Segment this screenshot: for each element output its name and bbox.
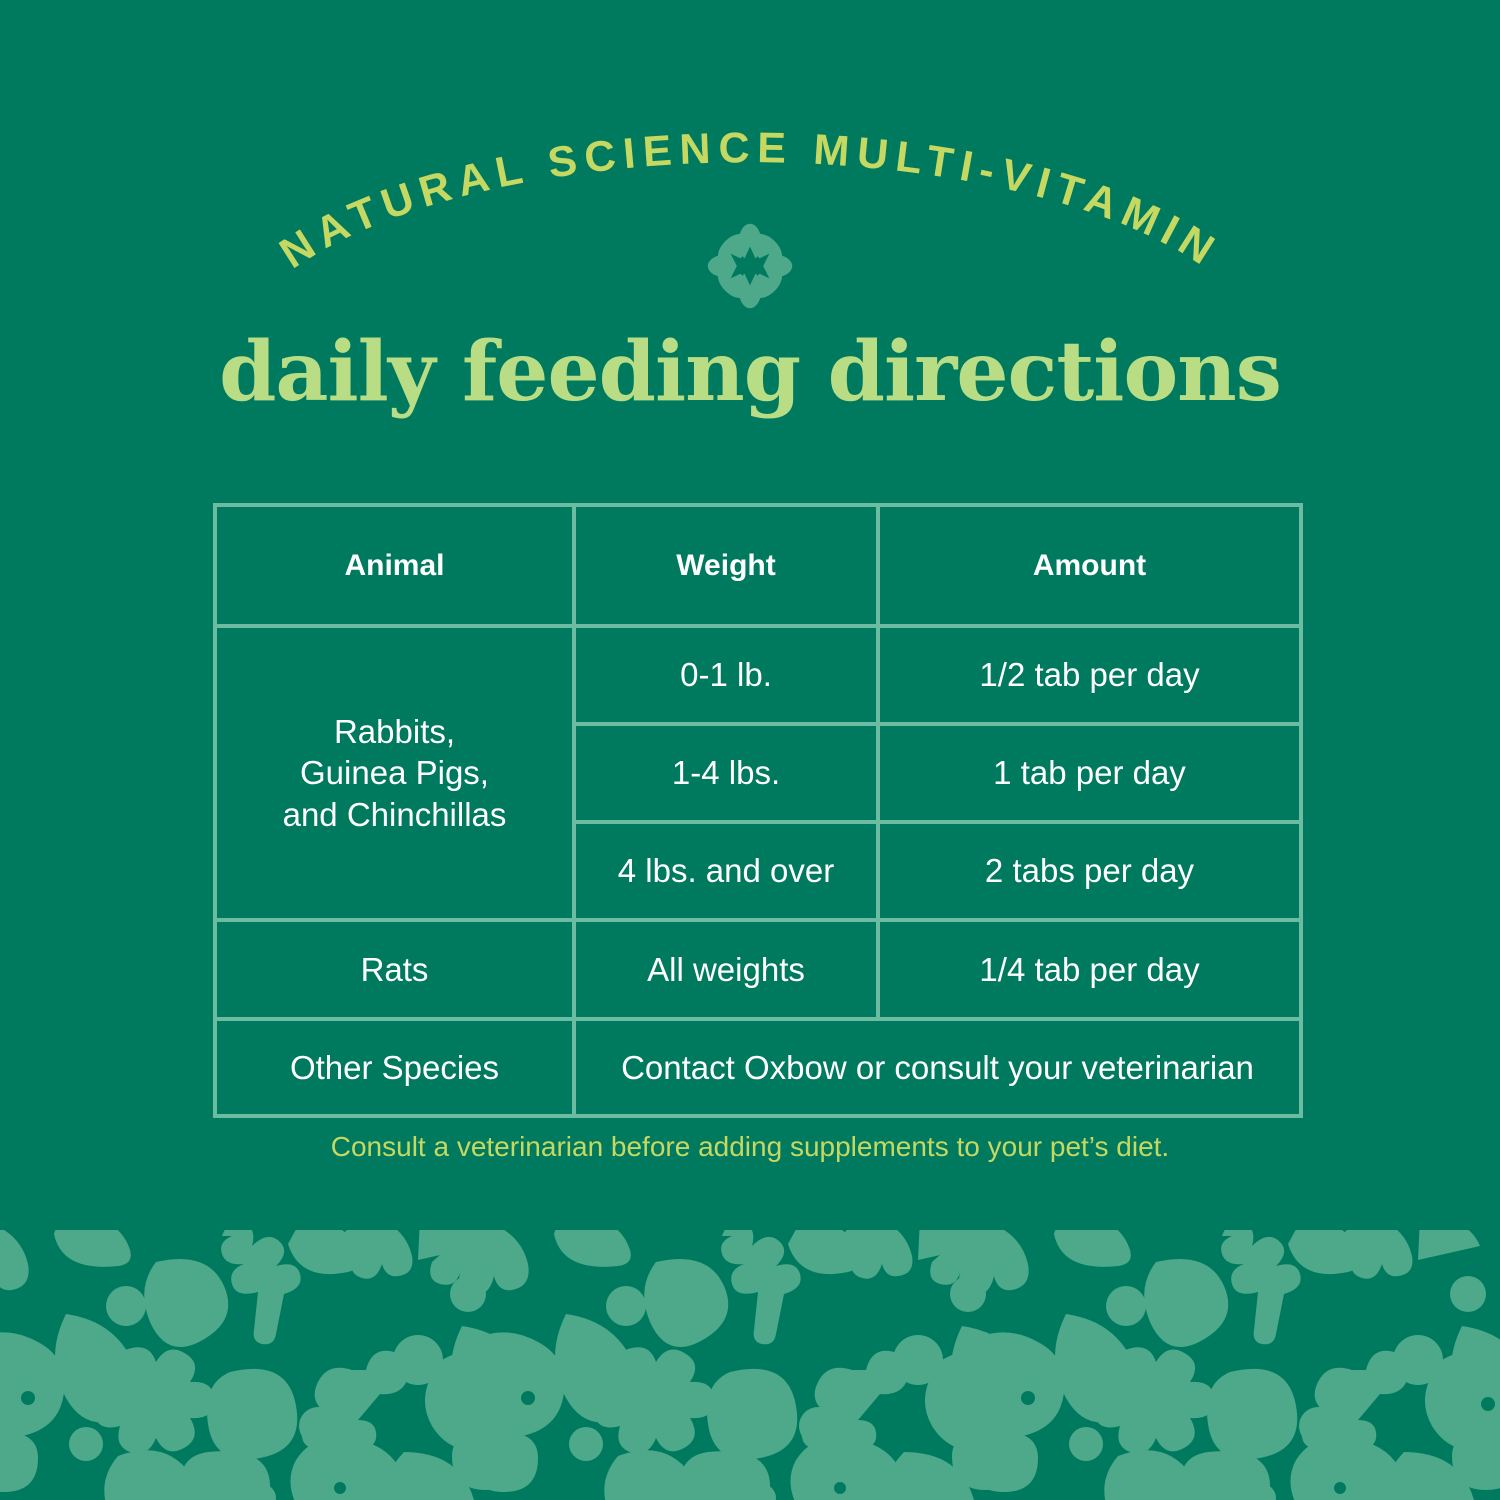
cell-animal: Other Species [215, 1019, 574, 1116]
cell-contact-note: Contact Oxbow or consult your veterinari… [574, 1019, 1301, 1116]
animal-line: Guinea Pigs, [217, 752, 572, 794]
cell-weight: All weights [574, 920, 878, 1019]
decorative-pattern-band [0, 1230, 1500, 1500]
column-header-amount: Amount [878, 505, 1301, 626]
cell-weight: 0-1 lb. [574, 626, 878, 724]
cell-animal-group: Rabbits, Guinea Pigs, and Chinchillas [215, 626, 574, 920]
animal-line: and Chinchillas [217, 794, 572, 836]
cell-animal: Rats [215, 920, 574, 1019]
cell-amount: 1 tab per day [878, 724, 1301, 822]
table-row: Rats All weights 1/4 tab per day [215, 920, 1301, 1019]
feeding-directions-panel: NATURAL SCIENCE MULTI-VITAMIN [0, 0, 1500, 1500]
cell-weight: 1-4 lbs. [574, 724, 878, 822]
feeding-directions-table: Animal Weight Amount Rabbits, Guinea Pig… [213, 503, 1303, 1118]
page-title: daily feeding directions [0, 331, 1500, 413]
column-header-weight: Weight [574, 505, 878, 626]
column-header-animal: Animal [215, 505, 574, 626]
table-header-row: Animal Weight Amount [215, 505, 1301, 626]
cell-amount: 2 tabs per day [878, 822, 1301, 920]
rosette-flower-icon [706, 222, 794, 310]
cell-amount: 1/2 tab per day [878, 626, 1301, 724]
animal-line: Rabbits, [217, 711, 572, 753]
table-row: Rabbits, Guinea Pigs, and Chinchillas 0-… [215, 626, 1301, 724]
cell-weight: 4 lbs. and over [574, 822, 878, 920]
table-row: Other Species Contact Oxbow or consult y… [215, 1019, 1301, 1116]
cell-amount: 1/4 tab per day [878, 920, 1301, 1019]
footnote-disclaimer: Consult a veterinarian before adding sup… [0, 1131, 1500, 1163]
